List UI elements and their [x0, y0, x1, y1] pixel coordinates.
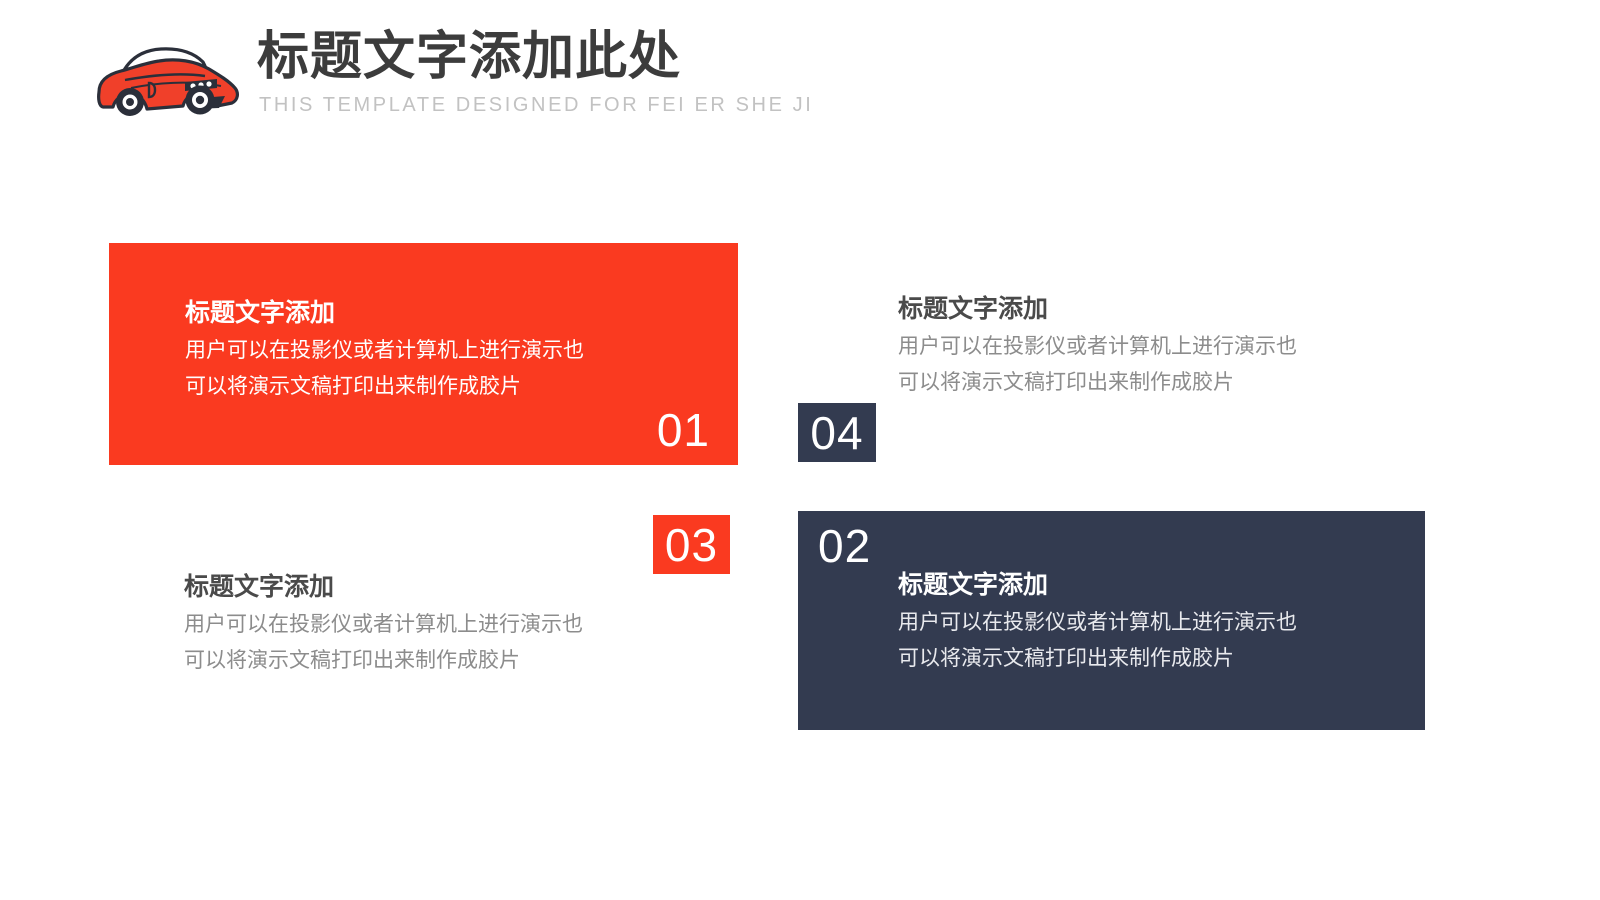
content-card-01-body-line2: 可以将演示文稿打印出来制作成胶片: [185, 371, 584, 403]
content-card-01-number: 01: [657, 407, 710, 453]
number-badge-03[interactable]: 03: [653, 515, 730, 574]
page-subtitle: THIS TEMPLATE DESIGNED FOR FEI ER SHE JI: [259, 94, 813, 117]
content-block-04-body-line1: 用户可以在投影仪或者计算机上进行演示也: [898, 331, 1297, 363]
content-block-03: 标题文字添加 用户可以在投影仪或者计算机上进行演示也 可以将演示文稿打印出来制作…: [184, 571, 583, 677]
content-block-03-body-line1: 用户可以在投影仪或者计算机上进行演示也: [184, 609, 583, 641]
content-card-02-text: 标题文字添加 用户可以在投影仪或者计算机上进行演示也 可以将演示文稿打印出来制作…: [898, 569, 1297, 675]
sports-car-icon: [85, 36, 245, 126]
slide-canvas: 标题文字添加此处 THIS TEMPLATE DESIGNED FOR FEI …: [0, 0, 1600, 900]
number-badge-04[interactable]: 04: [798, 403, 876, 462]
number-badge-04-label: 04: [810, 410, 863, 456]
content-block-03-body-line2: 可以将演示文稿打印出来制作成胶片: [184, 645, 583, 677]
header-text-group: 标题文字添加此处 THIS TEMPLATE DESIGNED FOR FEI …: [257, 28, 813, 117]
content-card-02-body-line1: 用户可以在投影仪或者计算机上进行演示也: [898, 607, 1297, 639]
content-card-01[interactable]: 标题文字添加 用户可以在投影仪或者计算机上进行演示也 可以将演示文稿打印出来制作…: [109, 243, 738, 465]
content-block-04: 标题文字添加 用户可以在投影仪或者计算机上进行演示也 可以将演示文稿打印出来制作…: [898, 293, 1297, 399]
number-badge-03-label: 03: [665, 522, 718, 568]
content-card-02[interactable]: 02 标题文字添加 用户可以在投影仪或者计算机上进行演示也 可以将演示文稿打印出…: [798, 511, 1425, 730]
slide-header: 标题文字添加此处 THIS TEMPLATE DESIGNED FOR FEI …: [85, 28, 1085, 138]
content-card-01-title: 标题文字添加: [185, 297, 584, 331]
content-card-02-body-line2: 可以将演示文稿打印出来制作成胶片: [898, 643, 1297, 675]
content-block-04-body-line2: 可以将演示文稿打印出来制作成胶片: [898, 367, 1297, 399]
content-card-01-body-line1: 用户可以在投影仪或者计算机上进行演示也: [185, 335, 584, 367]
content-card-01-text: 标题文字添加 用户可以在投影仪或者计算机上进行演示也 可以将演示文稿打印出来制作…: [185, 297, 584, 403]
content-block-03-title: 标题文字添加: [184, 571, 583, 605]
content-card-02-title: 标题文字添加: [898, 569, 1297, 603]
content-block-04-title: 标题文字添加: [898, 293, 1297, 327]
content-card-02-number: 02: [818, 523, 871, 569]
page-title: 标题文字添加此处: [257, 28, 813, 88]
